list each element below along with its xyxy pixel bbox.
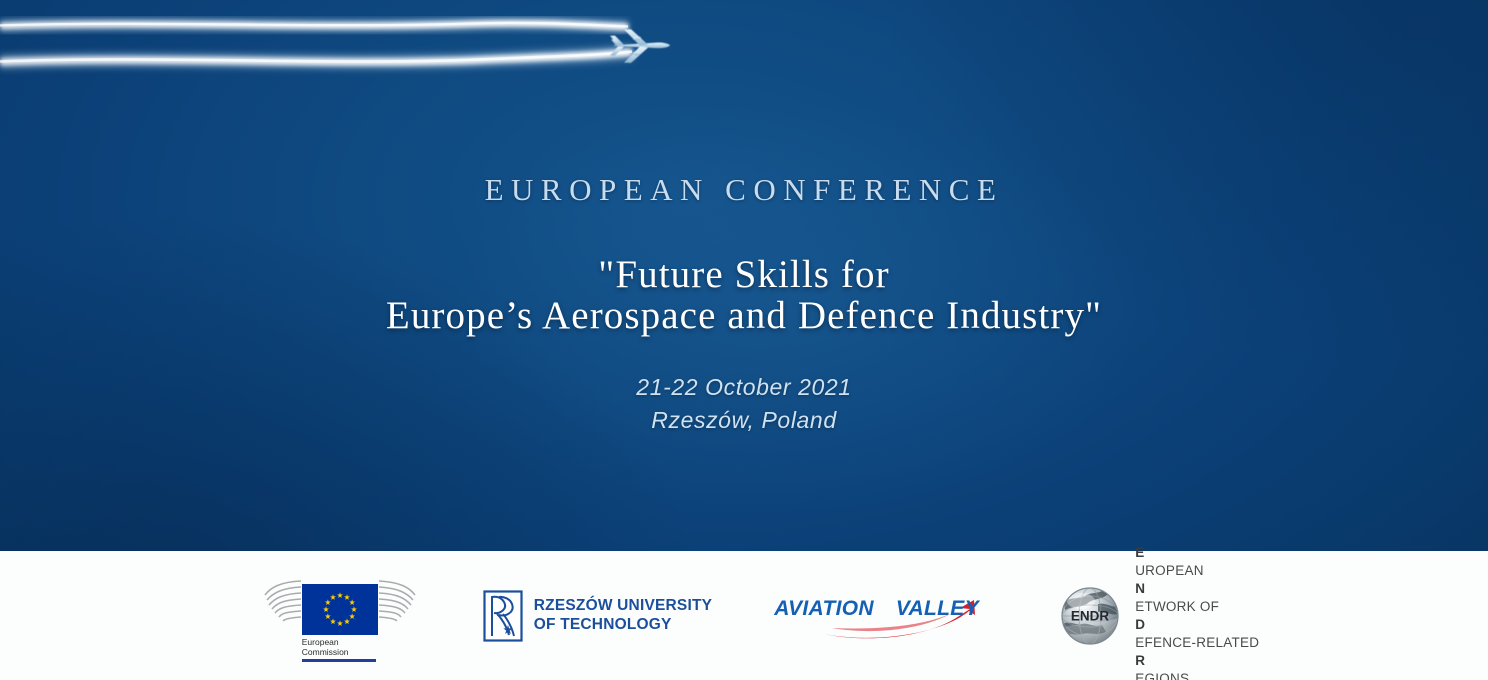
eu-flag-icon (302, 584, 378, 640)
endr-line1-rest2: ETWORK OF (1135, 598, 1259, 616)
logo-endr: ENDR EUROPEAN NETWORK OF DEFENCE-RELATED… (1058, 544, 1259, 680)
conference-title-line-1: "Future Skills for (0, 254, 1488, 295)
rut-wordmark-line-2: OF TECHNOLOGY (534, 616, 712, 635)
logo-row: European Commission (0, 551, 1488, 680)
endr-initial-r: R (1135, 653, 1145, 668)
endr-line2-rest2: EGIONS (1135, 670, 1259, 680)
endr-initial-d: D (1135, 617, 1145, 632)
endr-wordmark: EUROPEAN NETWORK OF DEFENCE-RELATED REGI… (1135, 544, 1259, 680)
banner-content: EUROPEAN CONFERENCE "Future Skills for E… (0, 0, 1488, 551)
logo-european-commission: European Commission (261, 567, 421, 665)
endr-wordmark-line-1: EUROPEAN NETWORK OF (1135, 544, 1259, 616)
logo-aviation-valley: AVIATIONVALLEY (774, 588, 996, 644)
ec-wordmark-line-2: Commission (302, 647, 349, 658)
logo-rzeszow-university: RZESZÓW UNIVERSITY OF TECHNOLOGY (483, 590, 712, 642)
endr-globe-icon: ENDR (1058, 584, 1122, 648)
conference-location: Rzeszów, Poland (0, 404, 1488, 437)
endr-initial-e: E (1135, 545, 1144, 560)
conference-title-line-2: Europe’s Aerospace and Defence Industry" (0, 295, 1488, 336)
endr-initial-n: N (1135, 581, 1145, 596)
ec-underline (302, 659, 376, 662)
rut-wordmark-line-1: RZESZÓW UNIVERSITY (534, 597, 712, 616)
aviation-valley-wordmark: AVIATIONVALLEY (774, 597, 996, 621)
conference-banner: EUROPEAN CONFERENCE "Future Skills for E… (0, 0, 1488, 680)
rut-wordmark: RZESZÓW UNIVERSITY OF TECHNOLOGY (534, 597, 712, 634)
conference-eyebrow: EUROPEAN CONFERENCE (0, 172, 1488, 208)
conference-title: "Future Skills for Europe’s Aerospace an… (0, 254, 1488, 336)
endr-line1-rest: UROPEAN (1135, 562, 1259, 580)
rut-monogram-icon (483, 590, 523, 642)
conference-meta: 21-22 October 2021 Rzeszów, Poland (0, 371, 1488, 437)
ec-wordmark-line-1: European (302, 637, 349, 648)
logo-bar: European Commission (0, 551, 1488, 680)
endr-line2-rest: EFENCE-RELATED (1135, 634, 1259, 652)
aviation-valley-word-2: VALLEY (896, 597, 979, 620)
aviation-valley-word-1: AVIATION (774, 597, 874, 620)
conference-date: 21-22 October 2021 (0, 371, 1488, 404)
endr-emblem-label: ENDR (1071, 608, 1110, 623)
endr-wordmark-line-2: DEFENCE-RELATED REGIONS (1135, 616, 1259, 680)
ec-wordmark: European Commission (302, 637, 349, 658)
